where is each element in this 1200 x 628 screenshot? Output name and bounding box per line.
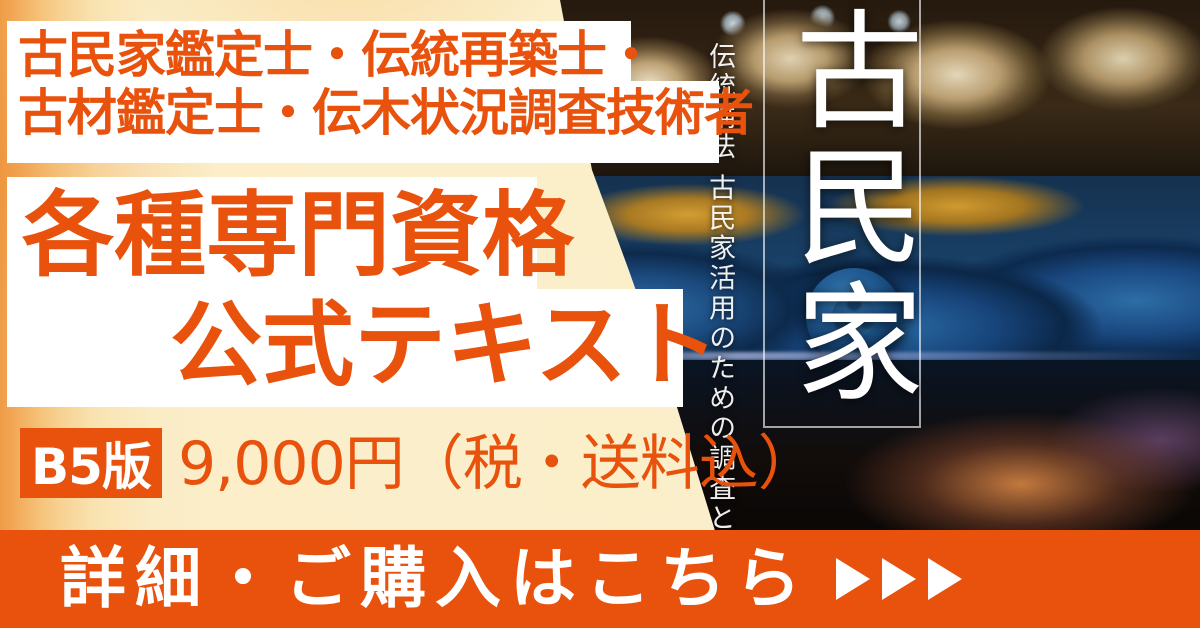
headline-line-2: 古材鑑定士・伝木状況調査技術者 [18, 86, 753, 140]
play-arrow-icon [836, 558, 870, 600]
promo-banner: 古民家 伝統構法 古民家活用のための調査と再生の 古民家鑑定士・伝統再築士・ 古… [0, 0, 1200, 628]
price-text: 9,000円（税・送料込） [178, 432, 817, 496]
play-arrow-icon [928, 558, 962, 600]
main-title-line-2: 公式テキスト [170, 296, 719, 396]
cta-arrow-group [836, 558, 962, 600]
book-cover-title: 古民家 [768, 4, 916, 412]
play-arrow-icon [882, 558, 916, 600]
headline-line-1: 古民家鑑定士・伝統再築士・ [18, 28, 655, 82]
main-title-line-1: 各種専門資格 [22, 186, 574, 286]
format-badge: B5版 [20, 428, 162, 498]
cta-label: 詳細・ご購入はこちら [60, 544, 810, 614]
cta-bar[interactable]: 詳細・ご購入はこちら [0, 530, 1200, 628]
